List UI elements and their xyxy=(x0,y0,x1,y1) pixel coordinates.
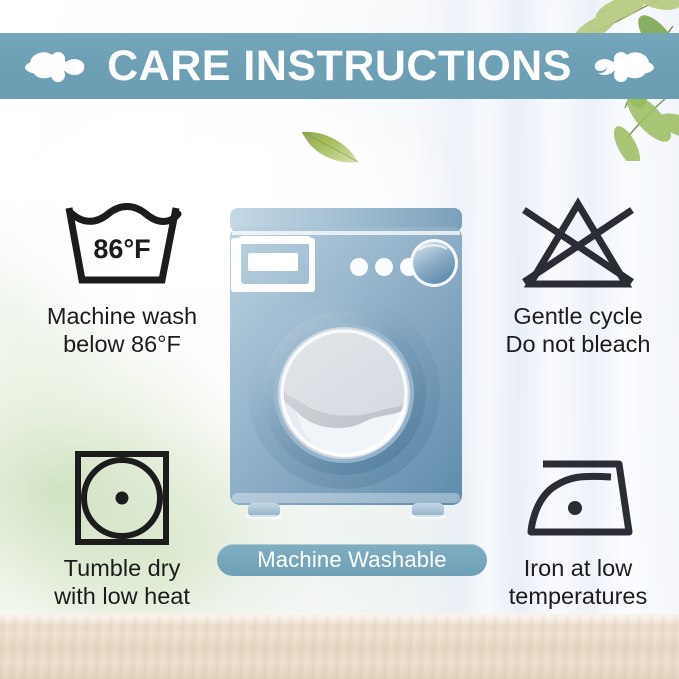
iron-icon xyxy=(478,448,678,548)
care-caption: Gentle cycle Do not bleach xyxy=(478,302,678,359)
wood-grain-texture xyxy=(0,615,679,679)
care-caption: Tumble dry with low heat xyxy=(22,554,222,611)
machine-washable-badge: Machine Washable xyxy=(217,544,487,576)
wash-tub-icon: 86°F xyxy=(22,196,222,296)
care-caption: Machine wash below 86°F xyxy=(22,302,222,359)
wash-temperature-value: 86°F xyxy=(93,234,150,264)
care-symbol-tumble-dry: Tumble dry with low heat xyxy=(22,448,222,611)
care-symbol-do-not-bleach: Gentle cycle Do not bleach xyxy=(478,196,678,359)
tumble-dry-icon xyxy=(22,448,222,548)
care-instructions-infographic: CARE INSTRUCTIONS 86°F Machine wash belo… xyxy=(0,0,679,679)
care-symbol-iron: Iron at low temperatures xyxy=(478,448,678,611)
crossed-out-triangle-icon xyxy=(478,196,678,296)
care-symbol-machine-wash: 86°F Machine wash below 86°F xyxy=(22,196,222,359)
care-caption: Iron at low temperatures xyxy=(478,554,678,611)
washing-machine-illustration xyxy=(226,205,466,525)
page-title: CARE INSTRUCTIONS xyxy=(0,33,679,99)
